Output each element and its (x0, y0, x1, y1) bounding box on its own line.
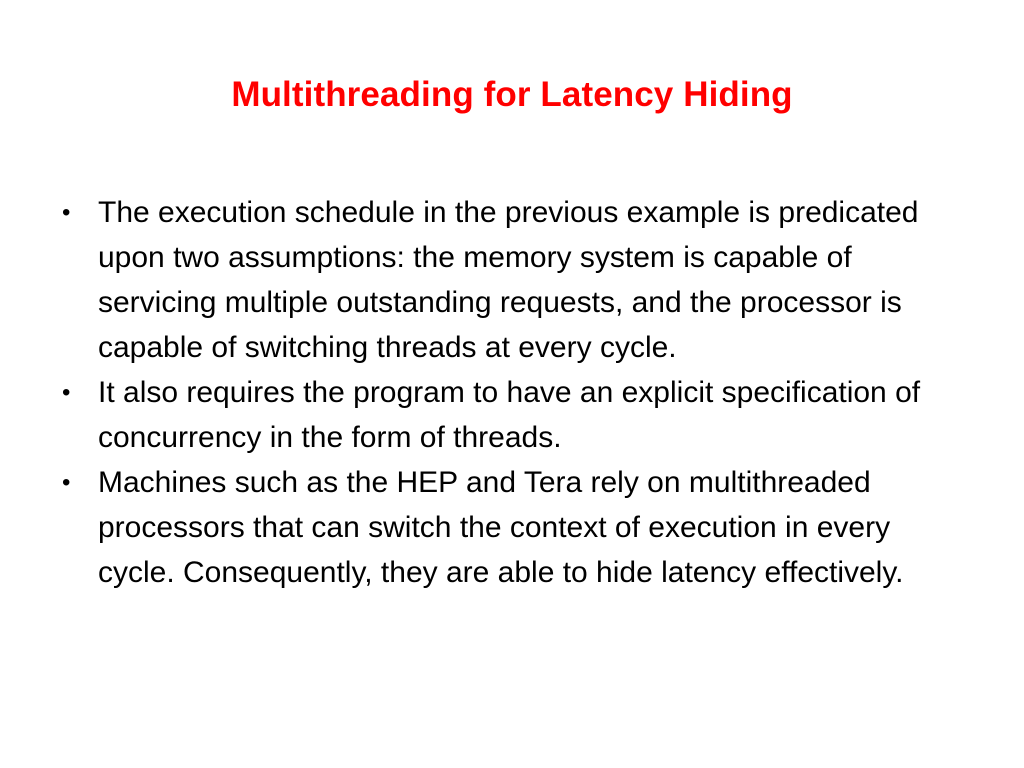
bullet-point-icon: • (62, 370, 82, 415)
list-item-text: It also requires the program to have an … (98, 370, 962, 460)
bullet-point-icon: • (62, 190, 82, 235)
slide-body: • The execution schedule in the previous… (62, 190, 962, 595)
bullet-list: • The execution schedule in the previous… (62, 190, 962, 595)
bullet-point-icon: • (62, 460, 82, 505)
list-item: • The execution schedule in the previous… (62, 190, 962, 370)
presentation-slide: Multithreading for Latency Hiding • The … (0, 0, 1024, 768)
page-title: Multithreading for Latency Hiding (60, 74, 964, 116)
list-item-text: The execution schedule in the previous e… (98, 190, 962, 370)
list-item-text: Machines such as the HEP and Tera rely o… (98, 460, 962, 595)
list-item: • Machines such as the HEP and Tera rely… (62, 460, 962, 595)
list-item: • It also requires the program to have a… (62, 370, 962, 460)
